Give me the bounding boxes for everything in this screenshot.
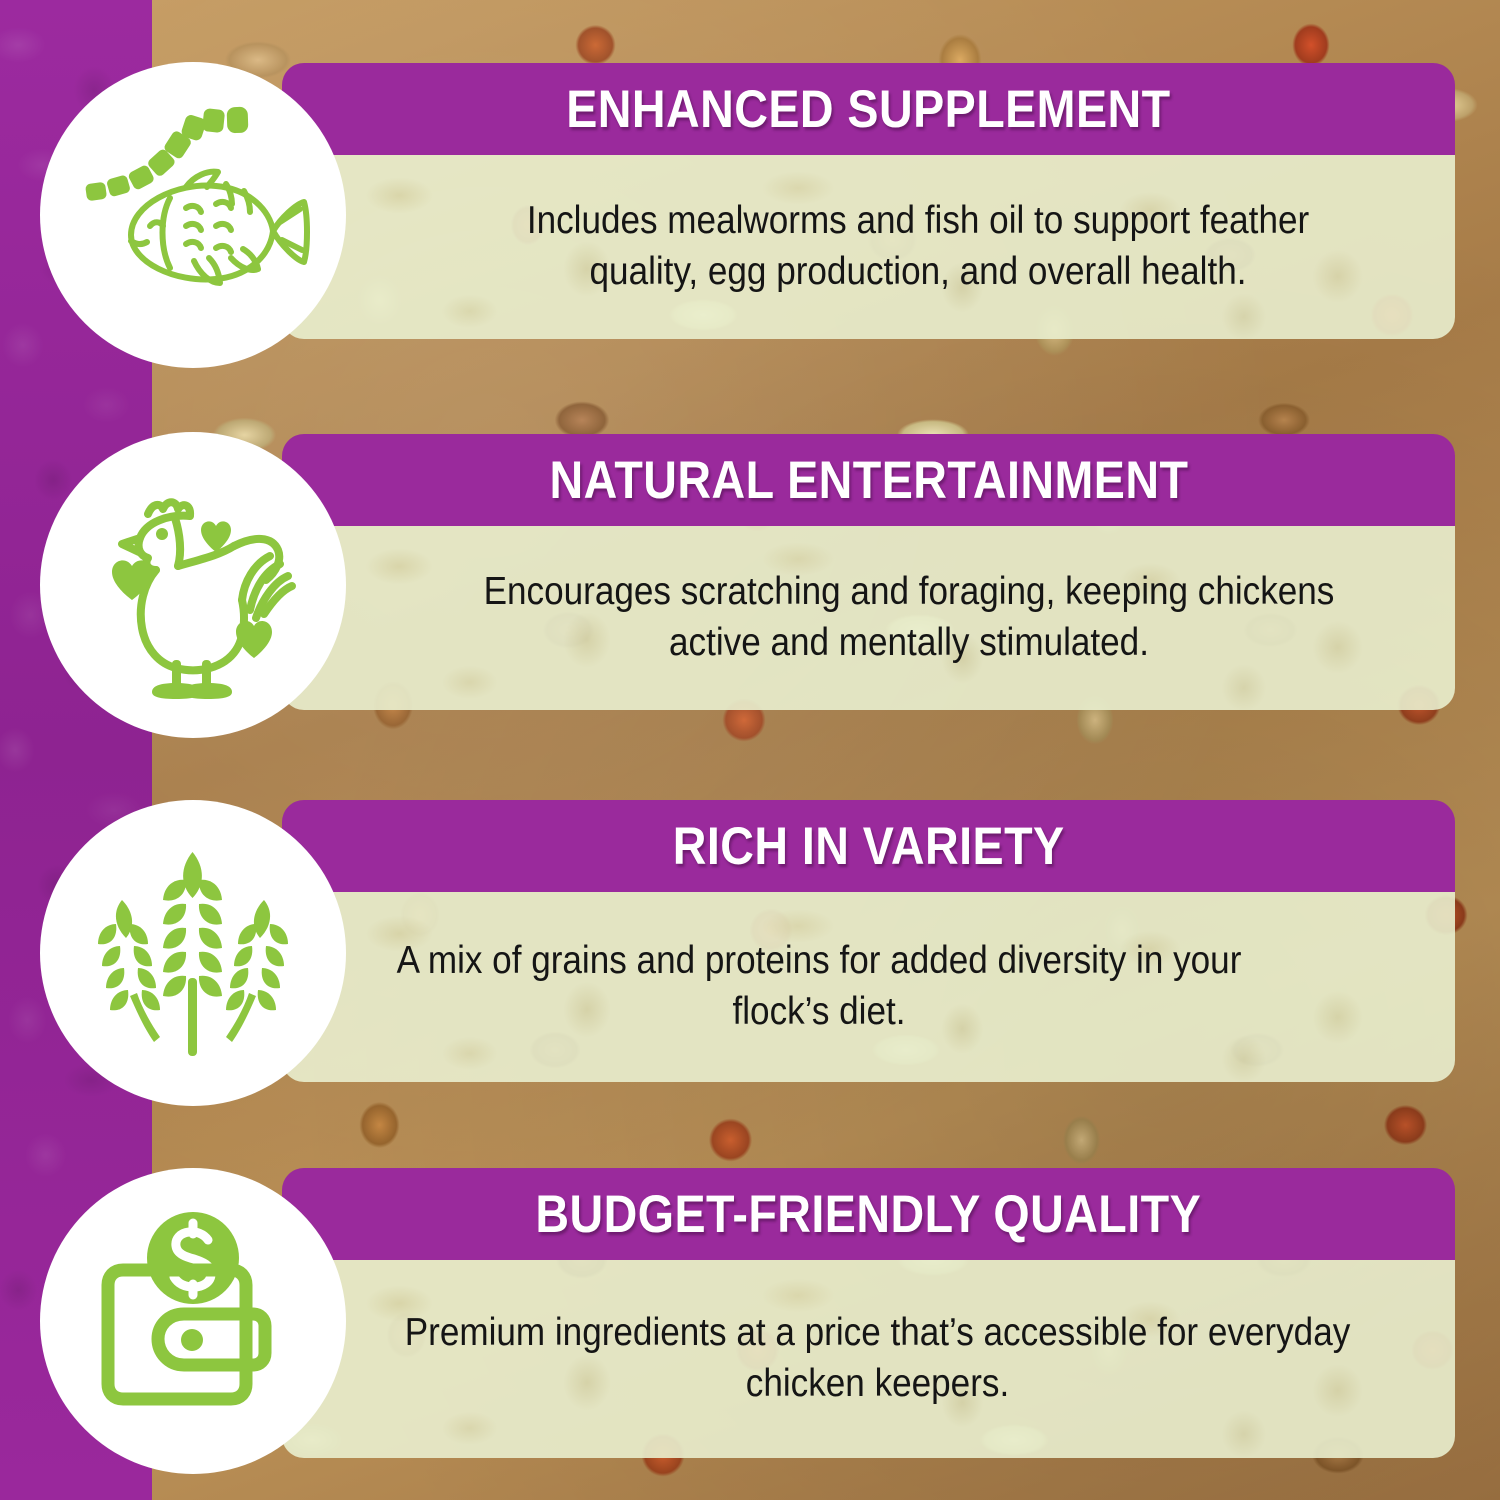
feature-card-rich-in-variety: RICH IN VARIETY A mix of grains and prot… [282, 800, 1455, 1082]
feature-card-body: Includes mealworms and fish oil to suppo… [282, 155, 1455, 339]
wallet-dollar-icon [68, 1196, 318, 1446]
feature-icon-badge [40, 800, 346, 1106]
feature-icon-badge [40, 1168, 346, 1474]
feature-icon-badge [40, 432, 346, 738]
feature-card-body: A mix of grains and proteins for added d… [282, 892, 1455, 1082]
feature-heading: BUDGET-FRIENDLY QUALITY [536, 1188, 1202, 1241]
feature-heading: ENHANCED SUPPLEMENT [566, 83, 1170, 136]
feature-card-budget-friendly-quality: BUDGET-FRIENDLY QUALITY Premium ingredie… [282, 1168, 1455, 1458]
feature-card-enhanced-supplement: ENHANCED SUPPLEMENT Includes mealworms a… [282, 63, 1455, 339]
feature-card-header: BUDGET-FRIENDLY QUALITY [282, 1168, 1455, 1260]
feature-description: Premium ingredients at a price that’s ac… [341, 1308, 1397, 1409]
feature-card-natural-entertainment: NATURAL ENTERTAINMENT Encourages scratch… [282, 434, 1455, 710]
wheat-stalks-icon [68, 828, 318, 1078]
feature-card-header: NATURAL ENTERTAINMENT [282, 434, 1455, 526]
product-feature-infographic: ENHANCED SUPPLEMENT Includes mealworms a… [0, 0, 1500, 1500]
feature-card-header: RICH IN VARIETY [282, 800, 1455, 892]
feature-card-body: Premium ingredients at a price that’s ac… [282, 1260, 1455, 1458]
feature-description: Encourages scratching and foraging, keep… [341, 567, 1397, 668]
feature-description: A mix of grains and proteins for added d… [341, 936, 1397, 1037]
chicken-hearts-icon [68, 460, 318, 710]
feature-description: Includes mealworms and fish oil to suppo… [341, 196, 1397, 297]
feature-heading: NATURAL ENTERTAINMENT [549, 454, 1188, 507]
mealworm-fish-icon [68, 90, 318, 340]
feature-icon-badge [40, 62, 346, 368]
feature-card-body: Encourages scratching and foraging, keep… [282, 526, 1455, 710]
feature-card-header: ENHANCED SUPPLEMENT [282, 63, 1455, 155]
feature-heading: RICH IN VARIETY [673, 820, 1065, 873]
